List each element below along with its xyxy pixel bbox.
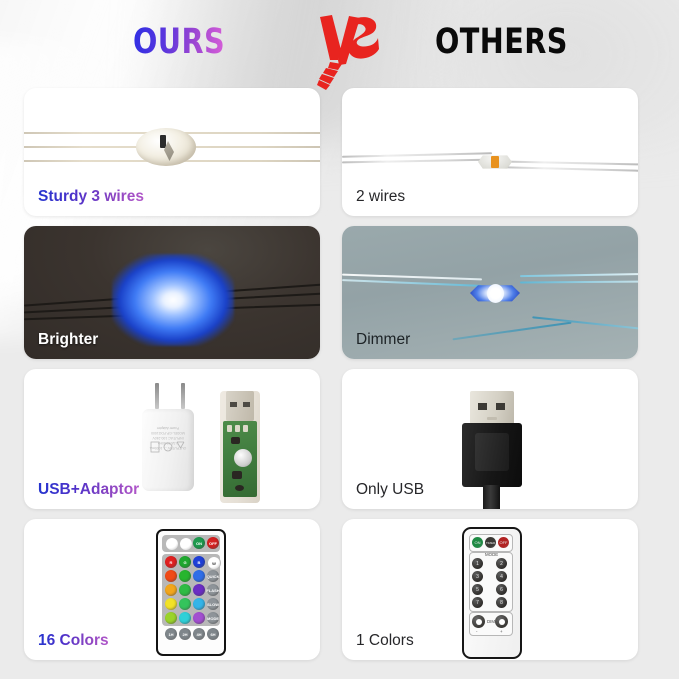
- usb-cable: [483, 485, 500, 509]
- rgb-remote-color-b[interactable]: B: [193, 556, 205, 568]
- ir-remote-number-3[interactable]: 3: [472, 571, 483, 582]
- card-ours-brighter: Brighter: [24, 226, 320, 359]
- comparison-row-colors: ONOFFRGBWQUICKFLASHSLOWMODE1H2H4H6H 16 C…: [0, 519, 679, 660]
- label-1-colors: 1 Colors: [356, 632, 414, 650]
- card-others-wires: 2 wires: [342, 88, 638, 216]
- rgb-remote-color-r[interactable]: R: [165, 556, 177, 568]
- dongle-button: [234, 449, 252, 467]
- rgb-remote[interactable]: ONOFFRGBWQUICKFLASHSLOWMODE1H2H4H6H: [156, 529, 226, 656]
- ir-remote-number-2[interactable]: 2: [496, 558, 507, 569]
- rgb-remote-fn-slow[interactable]: SLOW: [207, 598, 219, 610]
- ours-title: OURS: [133, 22, 225, 62]
- label-2-wires: 2 wires: [356, 188, 405, 206]
- header: OURS OTHERS: [0, 0, 679, 88]
- usb-connector-metal: [470, 391, 514, 425]
- rgb-remote-color-w[interactable]: W: [207, 556, 221, 570]
- comparison-row-power: OUTPUT:5V --- 1000mA0.3A 50/60HzINPUT:AC…: [0, 369, 679, 509]
- rgb-remote-swatch-2-0[interactable]: [165, 598, 177, 610]
- rgb-remote-fn-flash[interactable]: FLASH: [207, 584, 219, 596]
- ir-remote-power-off[interactable]: OFF: [498, 537, 509, 548]
- rgb-remote-swatch-2-1[interactable]: [179, 598, 191, 610]
- ir-remote-timer[interactable]: TIMER: [485, 537, 496, 548]
- label-brighter: Brighter: [38, 331, 98, 349]
- comparison-row-wires: Sturdy 3 wires 2 wires: [0, 88, 679, 216]
- card-others-dimmer: Dimmer: [342, 226, 638, 359]
- rgb-remote-swatch-0-1[interactable]: [179, 570, 191, 582]
- others-title: OTHERS: [435, 22, 568, 62]
- ir-remote[interactable]: ONTIMEROFFMODE12345678DIM-+: [462, 527, 522, 659]
- rgb-remote-swatch-1-2[interactable]: [193, 584, 205, 596]
- rgb-remote-brightness-up[interactable]: [165, 537, 179, 551]
- ir-remote-number-4[interactable]: 4: [496, 571, 507, 582]
- rgb-remote-fn-quick[interactable]: QUICK: [207, 570, 219, 582]
- rgb-remote-swatch-3-1[interactable]: [179, 612, 191, 624]
- card-others-only-usb: Only USB: [342, 369, 638, 509]
- label-sturdy-3-wires: Sturdy 3 wires: [38, 188, 144, 206]
- ir-remote-number-6[interactable]: 6: [496, 584, 507, 595]
- rgb-remote-swatch-3-2[interactable]: [193, 612, 205, 624]
- ir-remote-dim-plus: +: [500, 629, 503, 634]
- label-usb-adaptor: USB+Adaptor: [38, 481, 139, 499]
- ir-remote-dim-up-icon[interactable]: [495, 615, 508, 628]
- usb-dongle: [220, 391, 260, 503]
- dim-led-core: [487, 284, 504, 303]
- ir-remote-dim-down-icon[interactable]: [472, 615, 485, 628]
- rgb-remote-timer-4h[interactable]: 4H: [193, 628, 205, 640]
- rgb-remote-swatch-3-0[interactable]: [165, 612, 177, 624]
- ir-remote-mode-label: MODE: [485, 552, 498, 557]
- wall-adapter: OUTPUT:5V --- 1000mA0.3A 50/60HzINPUT:AC…: [142, 409, 194, 491]
- ir-remote-dim-minus: -: [476, 629, 477, 634]
- dongle-usb-head: [226, 391, 254, 421]
- rgb-remote-timer-1h[interactable]: 1H: [165, 628, 177, 640]
- label-16-colors: 16 Colors: [38, 632, 109, 650]
- comparison-grid: Sturdy 3 wires 2 wires: [0, 88, 679, 670]
- rgb-remote-brightness-down[interactable]: [179, 537, 193, 551]
- ir-remote-number-5[interactable]: 5: [472, 584, 483, 595]
- rgb-remote-power-on[interactable]: ON: [193, 537, 205, 549]
- rgb-remote-swatch-0-2[interactable]: [193, 570, 205, 582]
- usb-connector-body: [462, 423, 522, 487]
- ir-remote-power-on[interactable]: ON: [472, 537, 483, 548]
- dongle-pcb: [223, 421, 257, 497]
- rgb-remote-fn-mode[interactable]: MODE: [207, 612, 219, 624]
- label-only-usb: Only USB: [356, 481, 424, 499]
- card-ours-wires: Sturdy 3 wires: [24, 88, 320, 216]
- rgb-remote-swatch-1-0[interactable]: [165, 584, 177, 596]
- led-chip: [478, 153, 512, 170]
- rgb-remote-swatch-0-0[interactable]: [165, 570, 177, 582]
- vs-icon: [308, 8, 384, 92]
- ir-remote-number-8[interactable]: 8: [496, 597, 507, 608]
- rgb-remote-timer-6h[interactable]: 6H: [207, 628, 219, 640]
- ir-remote-dim-label: DIM: [487, 619, 495, 624]
- led-glow: [112, 254, 234, 346]
- rgb-remote-color-g[interactable]: G: [179, 556, 191, 568]
- comparison-row-brightness: Brighter Dimmer: [0, 226, 679, 359]
- rgb-remote-swatch-2-2[interactable]: [193, 598, 205, 610]
- rgb-remote-swatch-1-1[interactable]: [179, 584, 191, 596]
- rgb-remote-power-off[interactable]: OFF: [207, 537, 219, 549]
- led-bulb: [136, 128, 196, 166]
- card-ours-16-colors: ONOFFRGBWQUICKFLASHSLOWMODE1H2H4H6H 16 C…: [24, 519, 320, 660]
- label-dimmer: Dimmer: [356, 331, 410, 349]
- ir-remote-number-1[interactable]: 1: [472, 558, 483, 569]
- comparison-infographic: OURS OTHERS: [0, 0, 679, 679]
- ir-remote-number-7[interactable]: 7: [472, 597, 483, 608]
- card-ours-usb-adaptor: OUTPUT:5V --- 1000mA0.3A 50/60HzINPUT:AC…: [24, 369, 320, 509]
- card-others-1-color: ONTIMEROFFMODE12345678DIM-+ 1 Colors: [342, 519, 638, 660]
- rgb-remote-timer-2h[interactable]: 2H: [179, 628, 191, 640]
